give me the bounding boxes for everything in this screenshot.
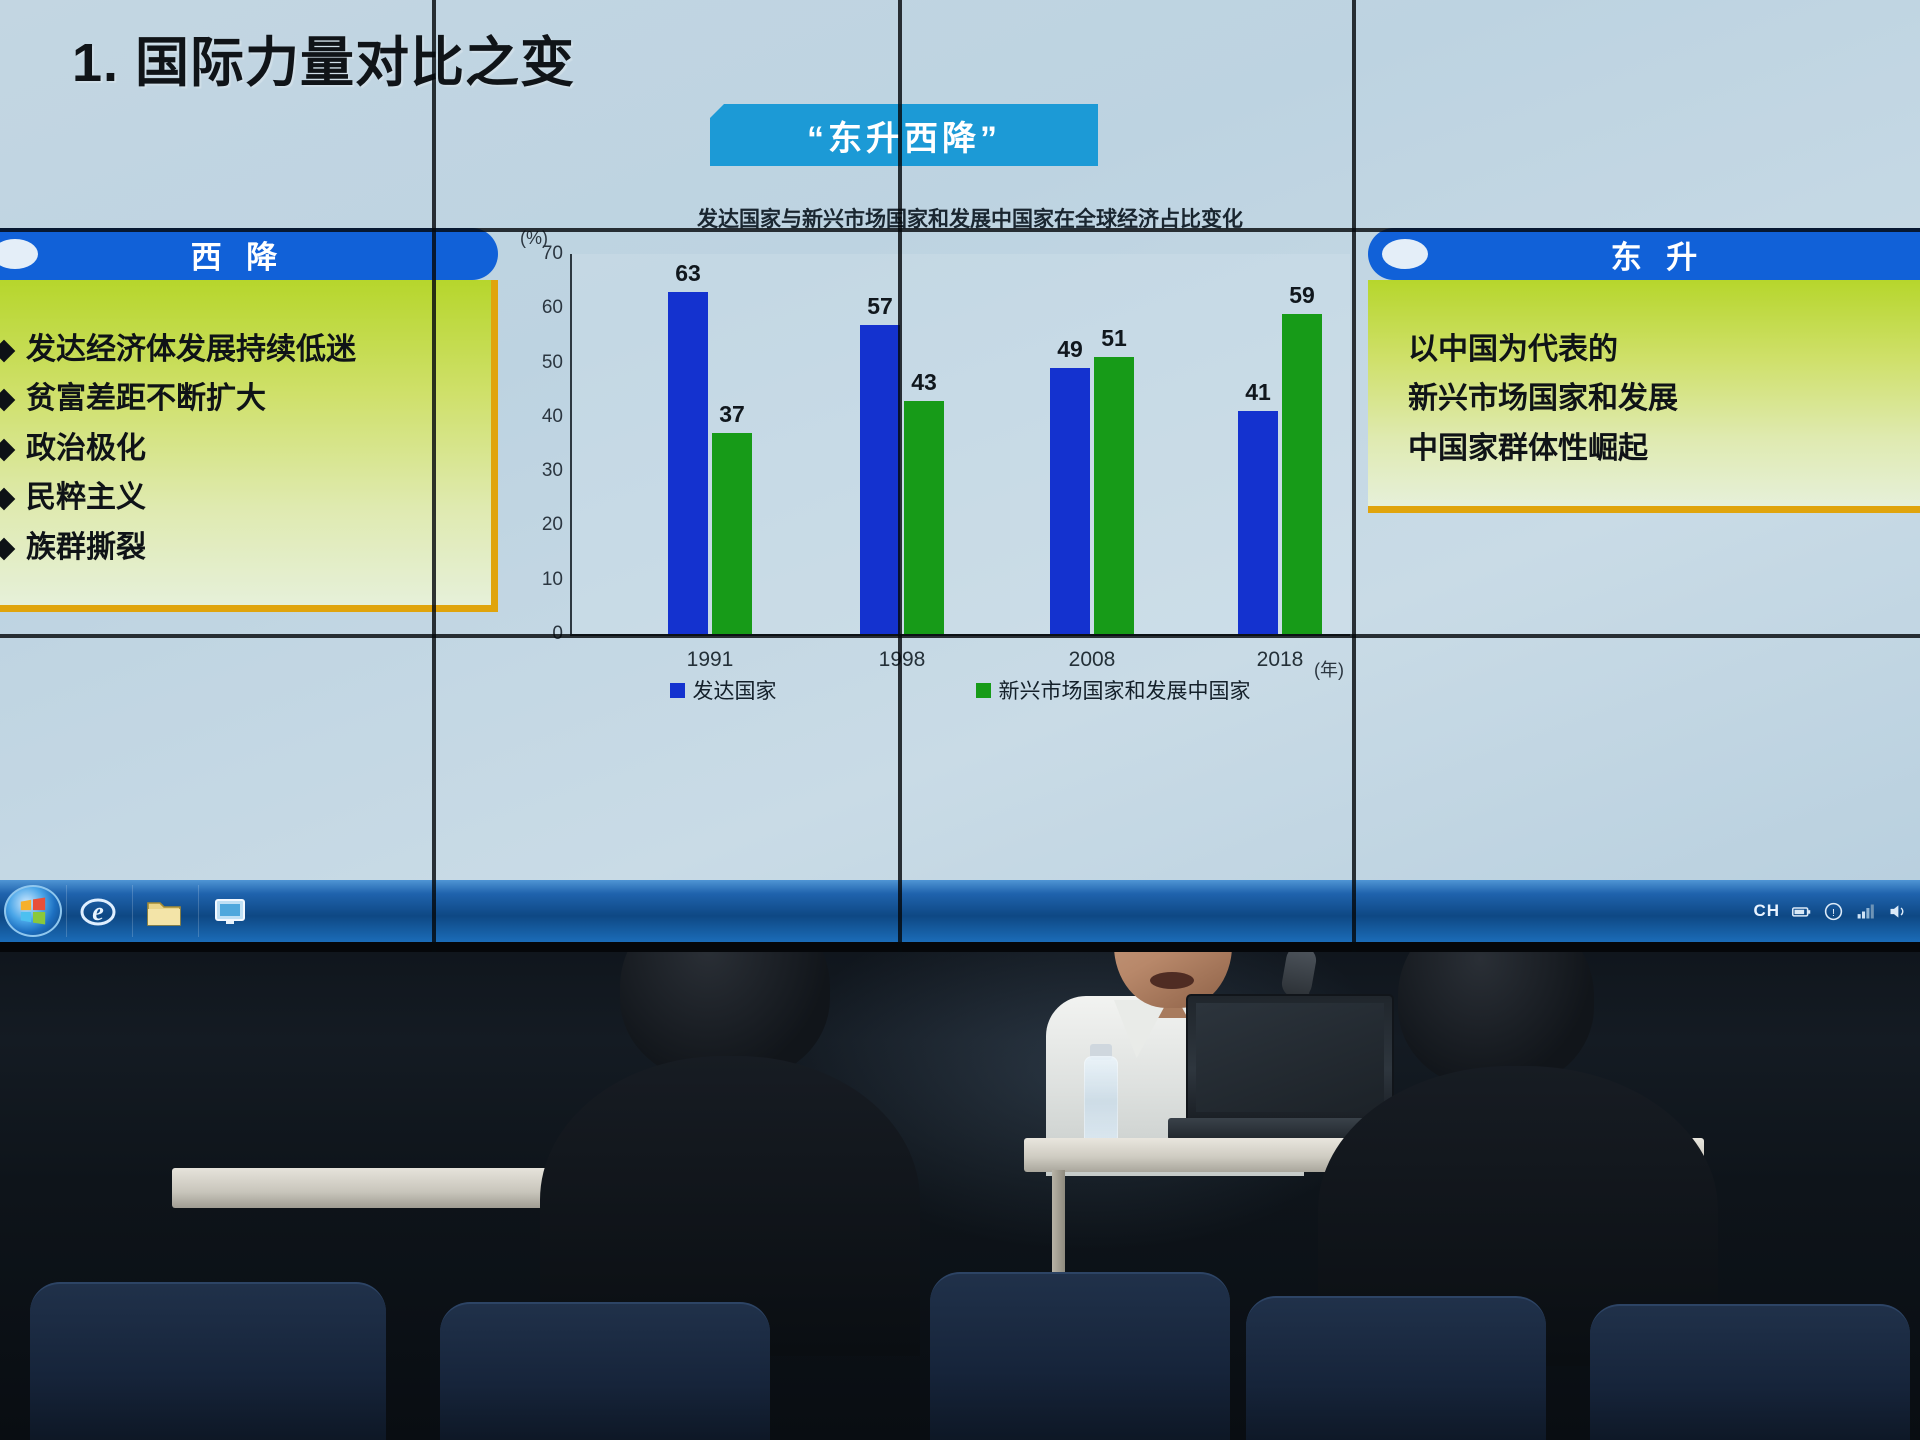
internet-explorer-icon: e <box>78 891 118 931</box>
callout-panel-west-title: 西 降 <box>0 232 498 277</box>
callout-panel-east-header: 东 升 <box>1368 228 1920 280</box>
diamond-bullet-icon <box>0 488 15 511</box>
system-tray[interactable]: CH ! <box>1753 901 1908 922</box>
y-tick-40: 40 <box>542 406 563 428</box>
projection-video-wall: 1. 国际力量对比之变 “东升西降” 发达国家与新兴市场国家和发展中国家在全球经… <box>0 0 1920 952</box>
list-item: 发达经济体发展持续低迷 <box>0 332 473 367</box>
auditorium-chair <box>440 1302 770 1440</box>
show-desktop-icon <box>210 891 250 931</box>
bullet-label: 贫富差距不断扩大 <box>26 381 266 416</box>
y-tick-10: 10 <box>542 569 563 591</box>
y-tick-50: 50 <box>542 352 563 374</box>
folder-icon <box>144 891 184 931</box>
chart-legend: 发达国家 新兴市场国家和发展中国家 <box>570 675 1350 705</box>
diamond-bullet-icon <box>0 389 15 412</box>
wall-seam-vertical <box>898 0 902 952</box>
bullet-label: 中国家群体性崛起 <box>1408 431 1648 466</box>
diamond-bullet-icon <box>0 537 15 560</box>
x-tick-2008: 2008 <box>1069 648 1116 672</box>
ime-language-indicator[interactable]: CH <box>1753 901 1780 921</box>
battery-icon[interactable] <box>1791 901 1812 922</box>
list-item: 民粹主义 <box>0 480 473 515</box>
legend-label-developed: 发达国家 <box>693 675 777 705</box>
legend-item-emerging: 新兴市场国家和发展中国家 <box>976 675 1251 705</box>
x-tick-1991: 1991 <box>687 648 734 672</box>
bar-developed-1991: 63 <box>668 292 708 634</box>
windows-logo-icon <box>18 896 48 926</box>
auditorium-chair <box>1246 1296 1546 1440</box>
windows-taskbar[interactable]: e CH ! <box>0 880 1920 942</box>
y-tick-60: 60 <box>542 297 563 319</box>
panel-bullet-ellipse-icon <box>1382 239 1428 269</box>
bullet-label: 新兴市场国家和发展 <box>1408 381 1678 416</box>
laptop-screen <box>1196 1003 1384 1112</box>
bar-value-developed-1998: 57 <box>867 293 893 320</box>
bar-developed-2008: 49 <box>1050 368 1090 634</box>
laptop-lid <box>1186 994 1394 1120</box>
bar-group-1998: 57 43 1998 <box>860 254 944 634</box>
bar-value-emerging-1991: 37 <box>719 401 745 428</box>
auditorium-chair <box>1590 1304 1910 1440</box>
action-center-icon[interactable]: ! <box>1823 901 1844 922</box>
auditorium-chair <box>30 1282 386 1440</box>
center-banner: “东升西降” <box>710 104 1098 166</box>
bar-value-emerging-2018: 59 <box>1289 282 1315 309</box>
presentation-slide: 1. 国际力量对比之变 “东升西降” 发达国家与新兴市场国家和发展中国家在全球经… <box>0 0 1920 880</box>
list-item: 以中国为代表的 <box>1408 332 1920 367</box>
diamond-bullet-icon <box>0 438 15 461</box>
callout-panel-west-header: 西 降 <box>0 228 498 280</box>
callout-panel-west-body: 发达经济体发展持续低迷 贫富差距不断扩大 政治极化 民粹主义 族群撕裂 <box>0 280 498 612</box>
svg-text:!: ! <box>1832 906 1835 918</box>
callout-panel-west: 西 降 发达经济体发展持续低迷 贫富差距不断扩大 政治极化 民粹主义 <box>0 228 498 612</box>
legend-swatch-emerging-icon <box>976 683 991 698</box>
bullet-label: 发达经济体发展持续低迷 <box>26 332 356 367</box>
callout-panel-east: 东 升 以中国为代表的 新兴市场国家和发展 中国家群体性崛起 <box>1368 228 1920 513</box>
bar-chart: (%) 70 60 50 40 30 20 10 0 63 37 <box>508 232 1368 692</box>
bullet-label: 以中国为代表的 <box>1408 332 1618 367</box>
bullet-label: 民粹主义 <box>26 480 146 515</box>
bar-value-developed-2008: 49 <box>1057 336 1083 363</box>
list-item: 政治极化 <box>0 431 473 466</box>
diamond-bullet-icon <box>0 340 15 363</box>
bar-emerging-1998: 43 <box>904 401 944 634</box>
center-banner-label: “东升西降” <box>807 111 1001 160</box>
bar-emerging-1991: 37 <box>712 433 752 634</box>
callout-panel-east-title: 东 升 <box>1368 232 1920 277</box>
wall-seam-vertical <box>432 0 436 952</box>
taskbar-item-windows-explorer[interactable] <box>132 885 194 937</box>
bar-developed-1998: 57 <box>860 325 900 634</box>
bar-developed-2018: 41 <box>1238 411 1278 634</box>
list-item: 贫富差距不断扩大 <box>0 381 473 416</box>
x-tick-1998: 1998 <box>879 648 926 672</box>
bullet-label: 族群撕裂 <box>26 530 146 565</box>
svg-text:e: e <box>92 897 104 926</box>
bar-value-developed-1991: 63 <box>675 260 701 287</box>
list-item: 族群撕裂 <box>0 530 473 565</box>
wall-seam-horizontal <box>0 228 1920 232</box>
legend-swatch-developed-icon <box>670 683 685 698</box>
list-item: 中国家群体性崛起 <box>1408 431 1920 466</box>
legend-item-developed: 发达国家 <box>670 675 777 705</box>
bar-value-developed-2018: 41 <box>1245 379 1271 406</box>
bar-emerging-2008: 51 <box>1094 357 1134 634</box>
callout-panel-east-body: 以中国为代表的 新兴市场国家和发展 中国家群体性崛起 <box>1368 280 1920 513</box>
auditorium-chair <box>930 1272 1230 1440</box>
wall-seam-horizontal <box>0 634 1920 638</box>
y-tick-70: 70 <box>542 243 563 265</box>
taskbar-item-show-desktop[interactable] <box>198 885 260 937</box>
bar-emerging-2018: 59 <box>1282 314 1322 634</box>
lecture-room-foreground <box>0 952 1920 1440</box>
y-tick-30: 30 <box>542 460 563 482</box>
bar-value-emerging-1998: 43 <box>911 369 937 396</box>
wall-lower-bezel <box>0 942 1920 952</box>
volume-icon[interactable] <box>1887 901 1908 922</box>
list-item: 新兴市场国家和发展 <box>1408 381 1920 416</box>
start-button[interactable] <box>4 885 62 937</box>
bar-group-1991: 63 37 1991 <box>668 254 752 634</box>
legend-label-emerging: 新兴市场国家和发展中国家 <box>999 675 1251 705</box>
network-icon[interactable] <box>1855 901 1876 922</box>
bar-value-emerging-2008: 51 <box>1101 325 1127 352</box>
chart-plot-area: 70 60 50 40 30 20 10 0 63 37 1991 <box>570 254 1350 636</box>
x-tick-2018: 2018 <box>1257 648 1304 672</box>
bullet-label: 政治极化 <box>26 431 146 466</box>
bar-group-2018: 41 59 2018 <box>1238 254 1322 634</box>
taskbar-item-internet-explorer[interactable]: e <box>66 885 128 937</box>
y-tick-20: 20 <box>542 514 563 536</box>
bar-group-2008: 49 51 2008 <box>1050 254 1134 634</box>
slide-title: 1. 国际力量对比之变 <box>72 18 575 97</box>
wall-seam-vertical <box>1352 0 1356 952</box>
speaker-mouth <box>1150 972 1194 989</box>
